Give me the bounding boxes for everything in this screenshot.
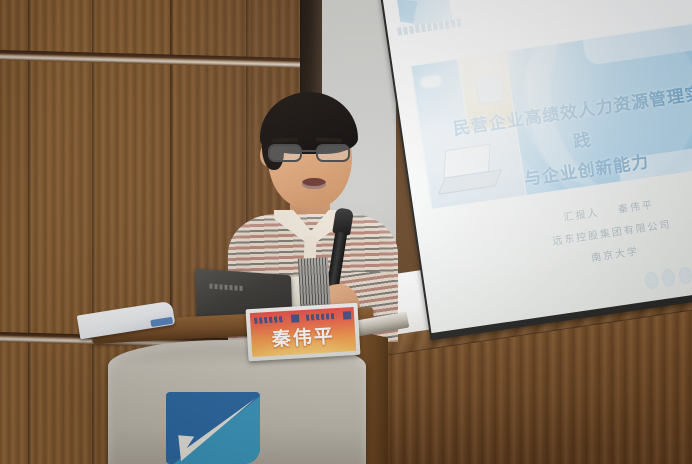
podium-front-panel bbox=[108, 340, 366, 464]
sponsor-wordmark bbox=[305, 313, 335, 321]
name-placard-text: 秦伟平 bbox=[251, 320, 357, 356]
name-placard: 秦伟平 bbox=[246, 303, 361, 362]
swallow-sail-logo-icon bbox=[166, 392, 260, 464]
projection-screen: 出站报告 民营企业高绩效人力资源管理实践 与企业创新能力 bbox=[382, 0, 692, 333]
sponsor-mark bbox=[290, 314, 298, 322]
presentation-slide: 出站报告 民营企业高绩效人力资源管理实践 与企业创新能力 bbox=[382, 0, 692, 333]
mouth bbox=[302, 178, 326, 189]
company-logo-icon bbox=[393, 0, 465, 42]
decor-dot bbox=[661, 268, 676, 287]
credit-reporter-name: 秦伟平 bbox=[618, 200, 655, 216]
name-placard-card: 秦伟平 bbox=[250, 307, 356, 357]
decor-dot bbox=[678, 266, 692, 285]
slide-decor-dots bbox=[644, 261, 692, 290]
slide-header-title: 出站报告 bbox=[598, 0, 681, 2]
projection-screen-frame: 出站报告 民营企业高绩效人力资源管理实践 与企业创新能力 bbox=[380, 0, 692, 340]
slide-credits: 汇报人 秦伟平 远东控股集团有限公司 南京大学 bbox=[513, 188, 692, 281]
eyeglasses-icon bbox=[266, 144, 354, 162]
sponsor-wordmark bbox=[254, 316, 284, 324]
credit-reporter-label: 汇报人 bbox=[563, 208, 600, 224]
wall-trim-strip bbox=[0, 50, 312, 68]
decor-dot bbox=[644, 271, 659, 290]
glasses-bridge bbox=[302, 150, 316, 152]
sponsor-mark bbox=[342, 311, 350, 319]
presentation-photo: 出站报告 民营企业高绩效人力资源管理实践 与企业创新能力 bbox=[0, 0, 692, 464]
laptop-brand-logo bbox=[209, 284, 243, 291]
wood-groove bbox=[28, 0, 31, 464]
lens-left bbox=[268, 144, 302, 162]
lens-right bbox=[316, 144, 350, 162]
